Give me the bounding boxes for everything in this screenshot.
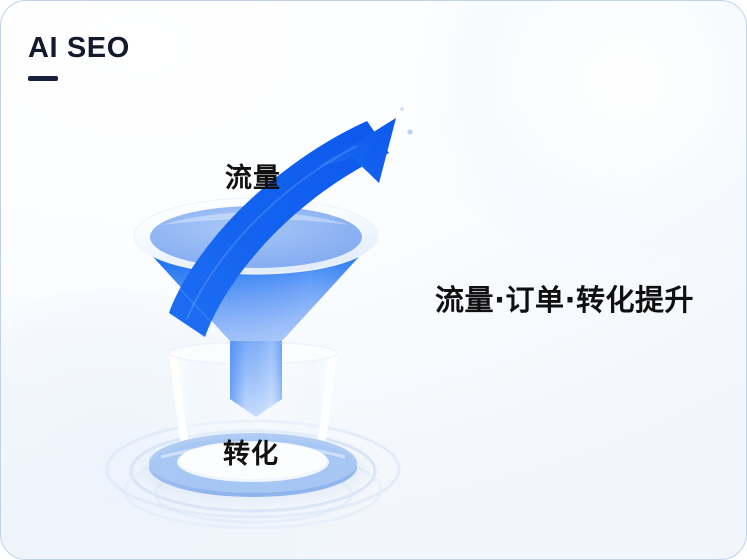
title-underline-bar [28,76,58,81]
page-title: AI SEO [28,34,130,63]
slide-card: AI SEO [0,0,747,560]
cone-edge-highlights [141,248,371,344]
header-block: AI SEO [28,34,130,81]
growth-arrow [169,118,396,337]
tagline-text: 流量·订单·转化提升 [435,277,694,319]
background-glow-top-right [416,0,747,271]
cup-shadow [143,441,363,501]
funnel-bowl [150,206,362,268]
ground-ripples [107,421,399,528]
glass-cup [169,342,337,470]
sparkles [400,107,412,134]
funnel-label-traffic: 流量 [225,156,281,195]
funnel-label-conversion: 转化 [223,432,279,471]
cup-base-ring [149,433,357,497]
funnel-rim [134,198,378,274]
background-glow-bottom-left [0,289,341,560]
funnel-stem [230,301,282,417]
funnel-cone [134,236,378,341]
arrow-inside-bowl [197,169,353,345]
